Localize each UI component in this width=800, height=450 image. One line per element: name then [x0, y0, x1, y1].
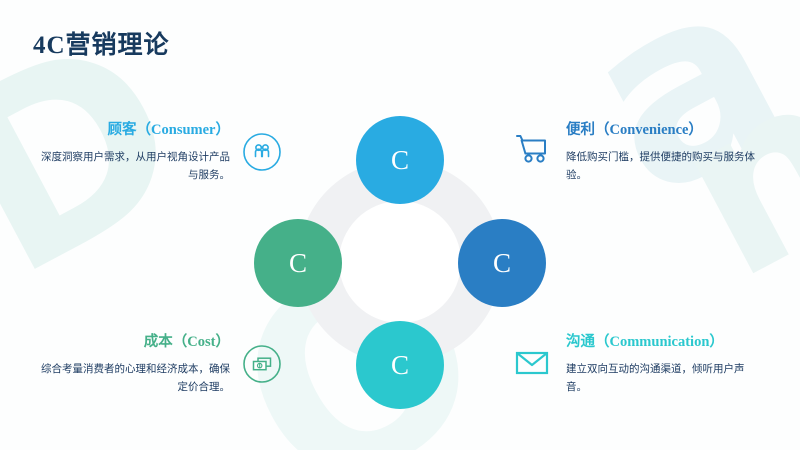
- quadrant-heading-consumer: 顾客（Consumer）: [40, 118, 230, 139]
- quadrant-consumer[interactable]: 顾客（Consumer） 深度洞察用户需求，从用户视角设计产品与服务。: [40, 118, 282, 186]
- four-c-diagram: C C C C: [298, 160, 502, 364]
- quadrant-communication[interactable]: 沟通（Communication） 建立双向互动的沟通渠道，倾听用户声音。: [512, 330, 756, 398]
- circle-letter: C: [289, 248, 307, 279]
- shopping-cart-icon: [512, 130, 552, 170]
- quadrant-heading-convenience: 便利（Convenience）: [566, 118, 756, 139]
- quadrant-convenience[interactable]: 便利（Convenience） 降低购买门槛，提供便捷的购买与服务体验。: [512, 118, 756, 186]
- circle-convenience[interactable]: C: [458, 219, 546, 307]
- circle-letter: C: [391, 145, 409, 176]
- users-circle-icon: [242, 132, 282, 172]
- money-circle-icon: [242, 344, 282, 384]
- circle-consumer[interactable]: C: [356, 116, 444, 204]
- quadrant-heading-communication: 沟通（Communication）: [566, 330, 756, 351]
- diagram-ring-inner: [339, 201, 461, 323]
- page-title: 4C营销理论: [33, 25, 170, 61]
- circle-communication[interactable]: C: [356, 321, 444, 409]
- envelope-icon: [512, 342, 552, 382]
- circle-letter: C: [391, 350, 409, 381]
- quadrant-description-convenience: 降低购买门槛，提供便捷的购买与服务体验。: [566, 149, 756, 186]
- slide-canvas: D O a n 4C营销理论 C C C C 顾客（Consumer） 深度洞察…: [0, 0, 800, 450]
- quadrant-heading-cost: 成本（Cost）: [40, 330, 230, 351]
- circle-letter: C: [493, 248, 511, 279]
- quadrant-description-cost: 综合考量消费者的心理和经济成本，确保定价合理。: [40, 361, 230, 398]
- quadrant-cost[interactable]: 成本（Cost） 综合考量消费者的心理和经济成本，确保定价合理。: [40, 330, 282, 398]
- quadrant-description-consumer: 深度洞察用户需求，从用户视角设计产品与服务。: [40, 149, 230, 186]
- quadrant-description-communication: 建立双向互动的沟通渠道，倾听用户声音。: [566, 361, 756, 398]
- circle-cost[interactable]: C: [254, 219, 342, 307]
